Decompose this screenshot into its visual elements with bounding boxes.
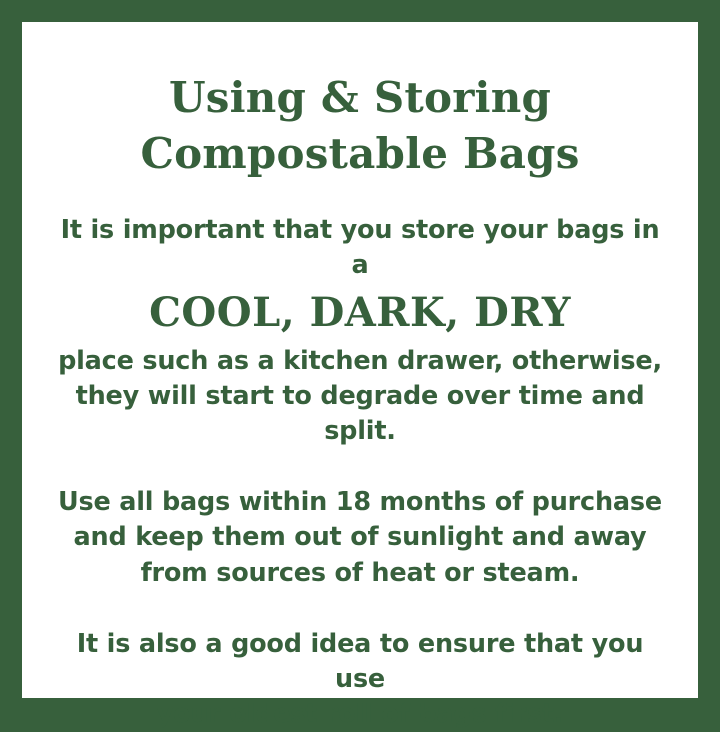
info-card: Using & Storing Compostable Bags It is i…	[22, 22, 698, 698]
paragraph-2-line-2: and keep them out of sunlight and away	[48, 520, 672, 555]
intro-line: It is important that you store your bags…	[48, 213, 672, 283]
page-title-line-2: Compostable Bags	[48, 126, 672, 182]
after-emphasis-line-2: they will start to degrade over time and…	[48, 379, 672, 449]
paragraph-2-line-1: Use all bags within 18 months of purchas…	[48, 485, 672, 520]
paragraph-2-line-3: from sources of heat or steam.	[48, 556, 672, 591]
after-emphasis-line-1: place such as a kitchen drawer, otherwis…	[48, 344, 672, 379]
emphasis-text: COOL, DARK, DRY	[48, 287, 672, 340]
page-title: Using & Storing Compostable Bags	[48, 70, 672, 183]
paragraph-3-line-2: your oldest roll of bags first.	[48, 697, 672, 732]
page-title-line-1: Using & Storing	[48, 70, 672, 126]
paragraph-3-line-1: It is also a good idea to ensure that yo…	[48, 627, 672, 697]
